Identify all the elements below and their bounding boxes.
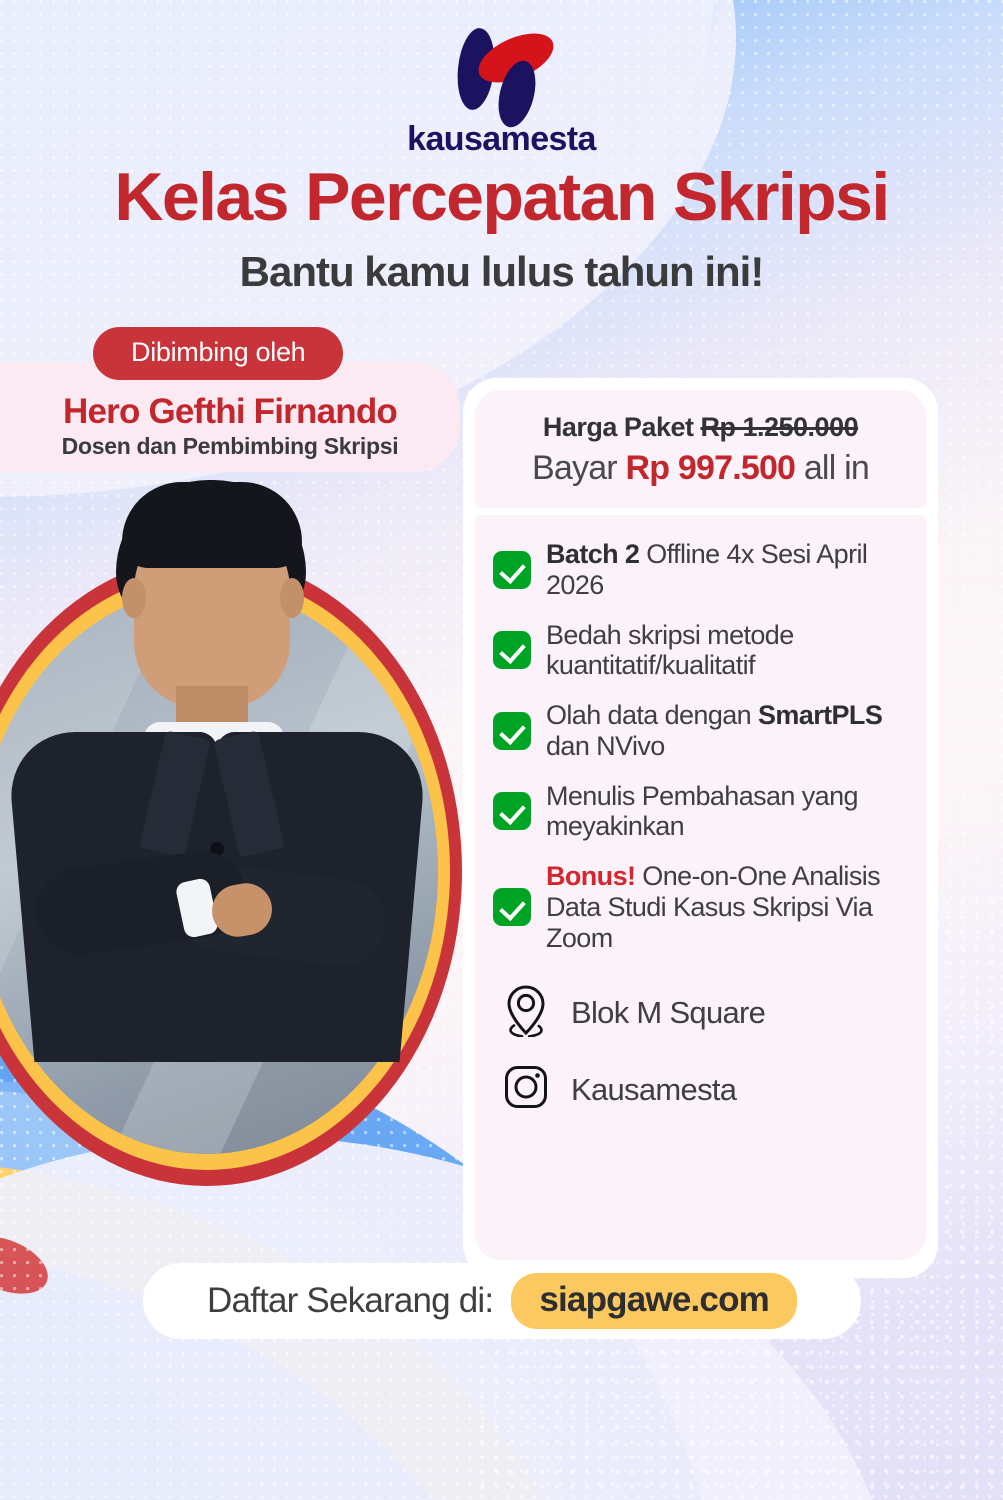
list-item: Menulis Pembahasan yang meyakinkan <box>493 781 906 843</box>
price-original: Rp 1.250.000 <box>701 412 859 442</box>
cta-bar[interactable]: Daftar Sekarang di: siapgawe.com <box>143 1263 861 1339</box>
contact-instagram-label: Kausamesta <box>571 1072 736 1108</box>
list-item: Olah data dengan SmartPLS dan NVivo <box>493 700 906 762</box>
check-icon <box>493 792 531 830</box>
cta-website-button[interactable]: siapgawe.com <box>511 1273 797 1329</box>
list-item: Bedah skripsi metode kuantitatif/kualita… <box>493 620 906 682</box>
feature-text: Menulis Pembahasan yang meyakinkan <box>546 781 906 843</box>
brand-logo: kausamesta <box>0 24 1003 159</box>
contact-location-label: Blok M Square <box>571 995 765 1031</box>
feature-text: Olah data dengan SmartPLS dan NVivo <box>546 700 906 762</box>
mentor-role: Dosen dan Pembimbing Skripsi <box>0 433 460 460</box>
feature-rest: Menulis Pembahasan yang meyakinkan <box>546 781 858 842</box>
feature-text: Bedah skripsi metode kuantitatif/kualita… <box>546 620 906 682</box>
price-pay-prefix: Bayar <box>532 449 617 487</box>
price-original-line: Harga Paket Rp 1.250.000 <box>493 412 908 443</box>
feature-rest-2: dan NVivo <box>546 731 665 761</box>
feature-bold: Batch 2 <box>546 539 639 569</box>
contact-instagram[interactable]: Kausamesta <box>503 1064 906 1115</box>
kausamesta-k-icon <box>452 24 552 116</box>
feature-list: Batch 2 Offline 4x Sesi April 2026 Bedah… <box>475 515 926 1260</box>
feature-text: Bonus! One-on-One Analisis Data Studi Ka… <box>546 861 906 953</box>
poster-root: kausamesta Kelas Percepatan Skripsi Bant… <box>0 0 1003 1500</box>
page-subtitle: Bantu kamu lulus tahun ini! <box>0 248 1003 296</box>
feature-bonus: Bonus! <box>546 861 635 891</box>
mentor-badge: Dibimbing oleh <box>93 327 343 380</box>
feature-text: Batch 2 Offline 4x Sesi April 2026 <box>546 539 906 601</box>
feature-bold: SmartPLS <box>758 700 882 730</box>
brand-name: kausamesta <box>407 120 596 159</box>
list-item: Batch 2 Offline 4x Sesi April 2026 <box>493 539 906 601</box>
location-pin-icon <box>503 983 549 1042</box>
feature-rest: Bedah skripsi metode kuantitatif/kualita… <box>546 620 794 681</box>
mentor-name: Hero Gefthi Firnando <box>0 392 460 432</box>
list-item: Bonus! One-on-One Analisis Data Studi Ka… <box>493 861 906 953</box>
check-icon <box>493 631 531 669</box>
check-icon <box>493 712 531 750</box>
mentor-portrait-figure <box>0 460 438 1200</box>
feature-rest: Olah data dengan <box>546 700 758 730</box>
page-title: Kelas Percepatan Skripsi <box>0 158 1003 236</box>
contact-location[interactable]: Blok M Square <box>503 983 906 1042</box>
price-section: Harga Paket Rp 1.250.000 Bayar Rp 997.50… <box>475 390 926 508</box>
instagram-icon <box>503 1064 549 1115</box>
offer-panel: Harga Paket Rp 1.250.000 Bayar Rp 997.50… <box>463 378 938 1278</box>
price-final-line: Bayar Rp 997.500 all in <box>493 449 908 488</box>
cta-label: Daftar Sekarang di: <box>207 1281 493 1321</box>
price-amount: Rp 997.500 <box>626 449 796 487</box>
check-icon <box>493 888 531 926</box>
check-icon <box>493 551 531 589</box>
price-pay-suffix: all in <box>804 449 869 487</box>
price-label: Harga Paket <box>543 412 694 442</box>
